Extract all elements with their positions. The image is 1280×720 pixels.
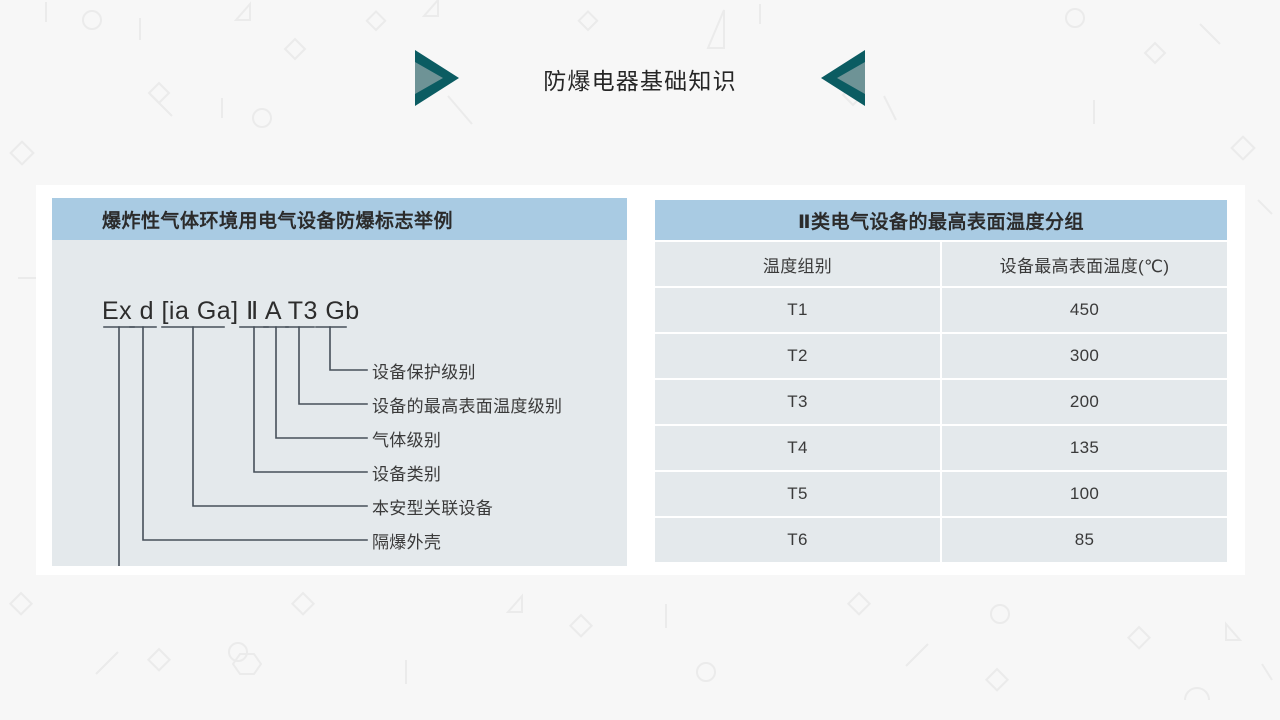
temperature-class-panel: Ⅱ类电气设备的最高表面温度分组 温度组别 设备最高表面温度(℃) T1 450 … [653, 198, 1229, 566]
table-row: T2 300 [655, 334, 1227, 378]
table-column-header-row: 温度组别 设备最高表面温度(℃) [655, 242, 1227, 286]
cell-temperature: 450 [942, 288, 1227, 332]
cell-temperature: 200 [942, 380, 1227, 424]
cell-group: T5 [655, 472, 940, 516]
table-title-row: Ⅱ类电气设备的最高表面温度分组 [655, 200, 1227, 240]
callout-label-3: 设备类别 [372, 460, 441, 485]
table-row: T3 200 [655, 380, 1227, 424]
callout-label-2: 气体级别 [372, 426, 441, 451]
cell-group: T4 [655, 426, 940, 470]
cell-group: T2 [655, 334, 940, 378]
table-row: T1 450 [655, 288, 1227, 332]
cell-group: T3 [655, 380, 940, 424]
slide-title-band: 防爆电器基础知识 [0, 44, 1280, 114]
ex-marking-panel-body: Ex d [ia Ga] Ⅱ A T3 Gb [52, 240, 627, 566]
cell-group: T6 [655, 518, 940, 562]
ex-marking-panel-header: 爆炸性气体环境用电气设备防爆标志举例 [52, 198, 627, 240]
callout-label-4: 本安型关联设备 [372, 494, 493, 519]
cell-temperature: 300 [942, 334, 1227, 378]
temperature-class-table: Ⅱ类电气设备的最高表面温度分组 温度组别 设备最高表面温度(℃) T1 450 … [653, 198, 1229, 564]
column-header-group: 温度组别 [655, 242, 940, 286]
callout-label-6: 防爆标志 [372, 562, 441, 566]
callout-label-5: 隔爆外壳 [372, 528, 441, 553]
table-row: T6 85 [655, 518, 1227, 562]
ex-marking-panel: 爆炸性气体环境用电气设备防爆标志举例 Ex d [ia Ga] Ⅱ A T3 G… [52, 198, 627, 566]
cell-group: T1 [655, 288, 940, 332]
right-arrow-decoration [821, 50, 875, 106]
callout-label-0: 设备保护级别 [372, 358, 476, 383]
cell-temperature: 135 [942, 426, 1227, 470]
page-title: 防爆电器基础知识 [405, 62, 875, 96]
callout-label-1: 设备的最高表面温度级别 [372, 392, 562, 417]
temperature-table-header: Ⅱ类电气设备的最高表面温度分组 [655, 200, 1227, 240]
table-row: T4 135 [655, 426, 1227, 470]
table-row: T5 100 [655, 472, 1227, 516]
column-header-temperature: 设备最高表面温度(℃) [942, 242, 1227, 286]
cell-temperature: 85 [942, 518, 1227, 562]
cell-temperature: 100 [942, 472, 1227, 516]
